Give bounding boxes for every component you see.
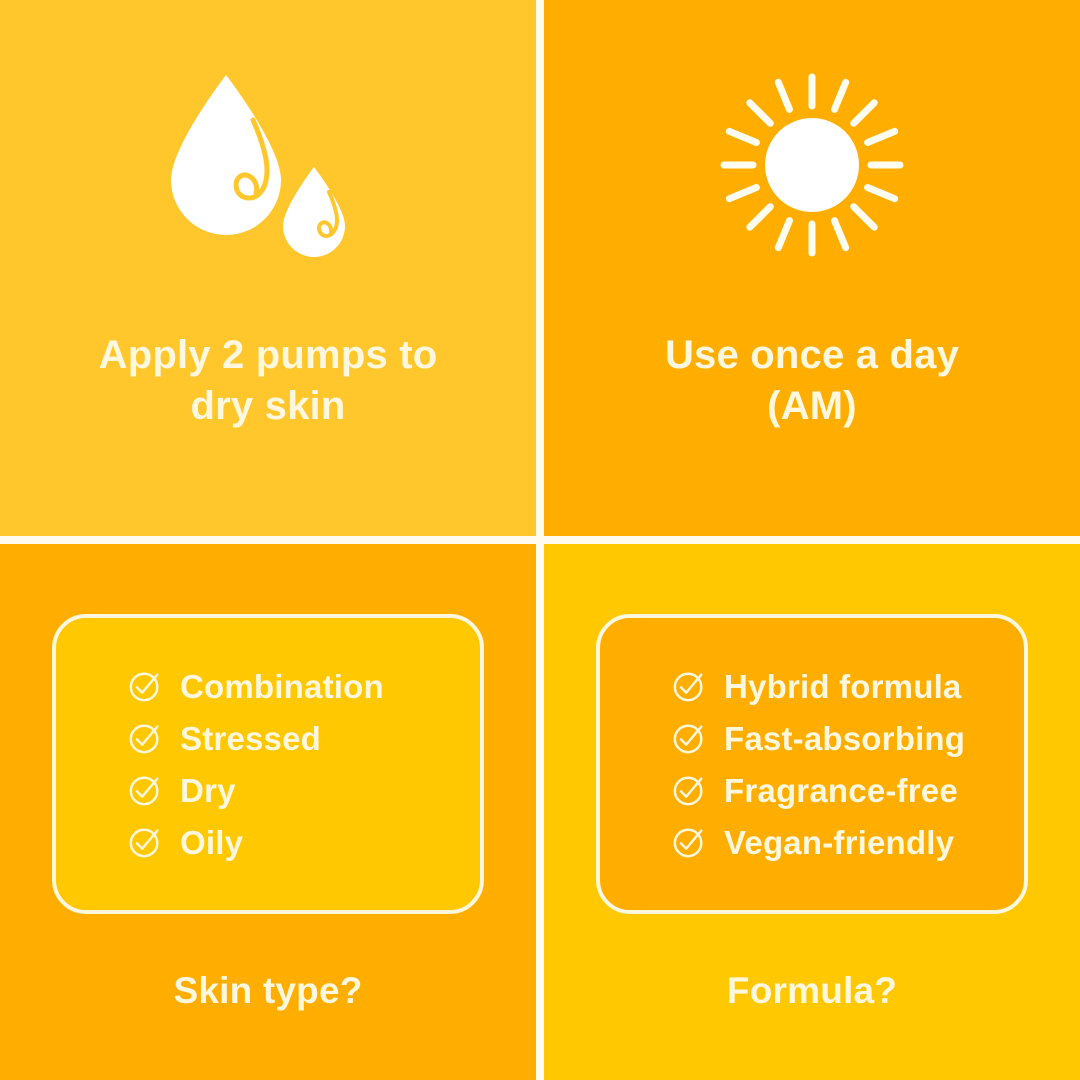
product-benefits-infographic: Apply 2 pumps to dry skin	[0, 0, 1080, 1080]
caption-apply-line1: Apply 2 pumps to	[40, 330, 496, 381]
check-circle-icon	[672, 773, 706, 807]
sun-icon	[712, 65, 912, 265]
check-circle-icon	[128, 669, 162, 703]
list-item-label: Fast-absorbing	[724, 722, 965, 755]
list-item[interactable]: Stressed	[128, 721, 480, 755]
panel-skin-type: Combination Stressed Dry	[0, 544, 536, 1080]
caption-frequency-line1: Use once a day	[584, 330, 1040, 381]
check-circle-icon	[128, 825, 162, 859]
list-item-label: Hybrid formula	[724, 670, 962, 703]
skin-type-label: Skin type?	[0, 970, 536, 1012]
formula-card: Hybrid formula Fast-absorbing Fragrance-…	[596, 614, 1028, 914]
list-item-label: Combination	[180, 670, 384, 703]
list-item[interactable]: Dry	[128, 773, 480, 807]
panel-apply: Apply 2 pumps to dry skin	[0, 0, 536, 536]
water-droplets-icon-wrap	[0, 0, 536, 330]
panel-frequency: Use once a day (AM)	[544, 0, 1080, 536]
sun-icon-wrap	[544, 0, 1080, 330]
list-item[interactable]: Combination	[128, 669, 480, 703]
list-item-label: Dry	[180, 774, 236, 807]
list-item-label: Stressed	[180, 722, 321, 755]
check-circle-icon	[128, 773, 162, 807]
list-item[interactable]: Hybrid formula	[672, 669, 1024, 703]
list-item[interactable]: Oily	[128, 825, 480, 859]
caption-frequency: Use once a day (AM)	[544, 330, 1080, 432]
check-circle-icon	[672, 721, 706, 755]
water-droplets-icon	[163, 58, 373, 273]
formula-label: Formula?	[544, 970, 1080, 1012]
list-item[interactable]: Vegan-friendly	[672, 825, 1024, 859]
check-circle-icon	[128, 721, 162, 755]
caption-frequency-line2: (AM)	[584, 381, 1040, 432]
skin-type-card: Combination Stressed Dry	[52, 614, 484, 914]
list-item[interactable]: Fragrance-free	[672, 773, 1024, 807]
panel-formula: Hybrid formula Fast-absorbing Fragrance-…	[544, 544, 1080, 1080]
list-item-label: Oily	[180, 826, 243, 859]
list-item-label: Vegan-friendly	[724, 826, 954, 859]
list-item[interactable]: Fast-absorbing	[672, 721, 1024, 755]
caption-apply-line2: dry skin	[40, 381, 496, 432]
list-item-label: Fragrance-free	[724, 774, 958, 807]
caption-apply: Apply 2 pumps to dry skin	[0, 330, 536, 432]
check-circle-icon	[672, 825, 706, 859]
check-circle-icon	[672, 669, 706, 703]
horizontal-divider	[0, 536, 1080, 544]
